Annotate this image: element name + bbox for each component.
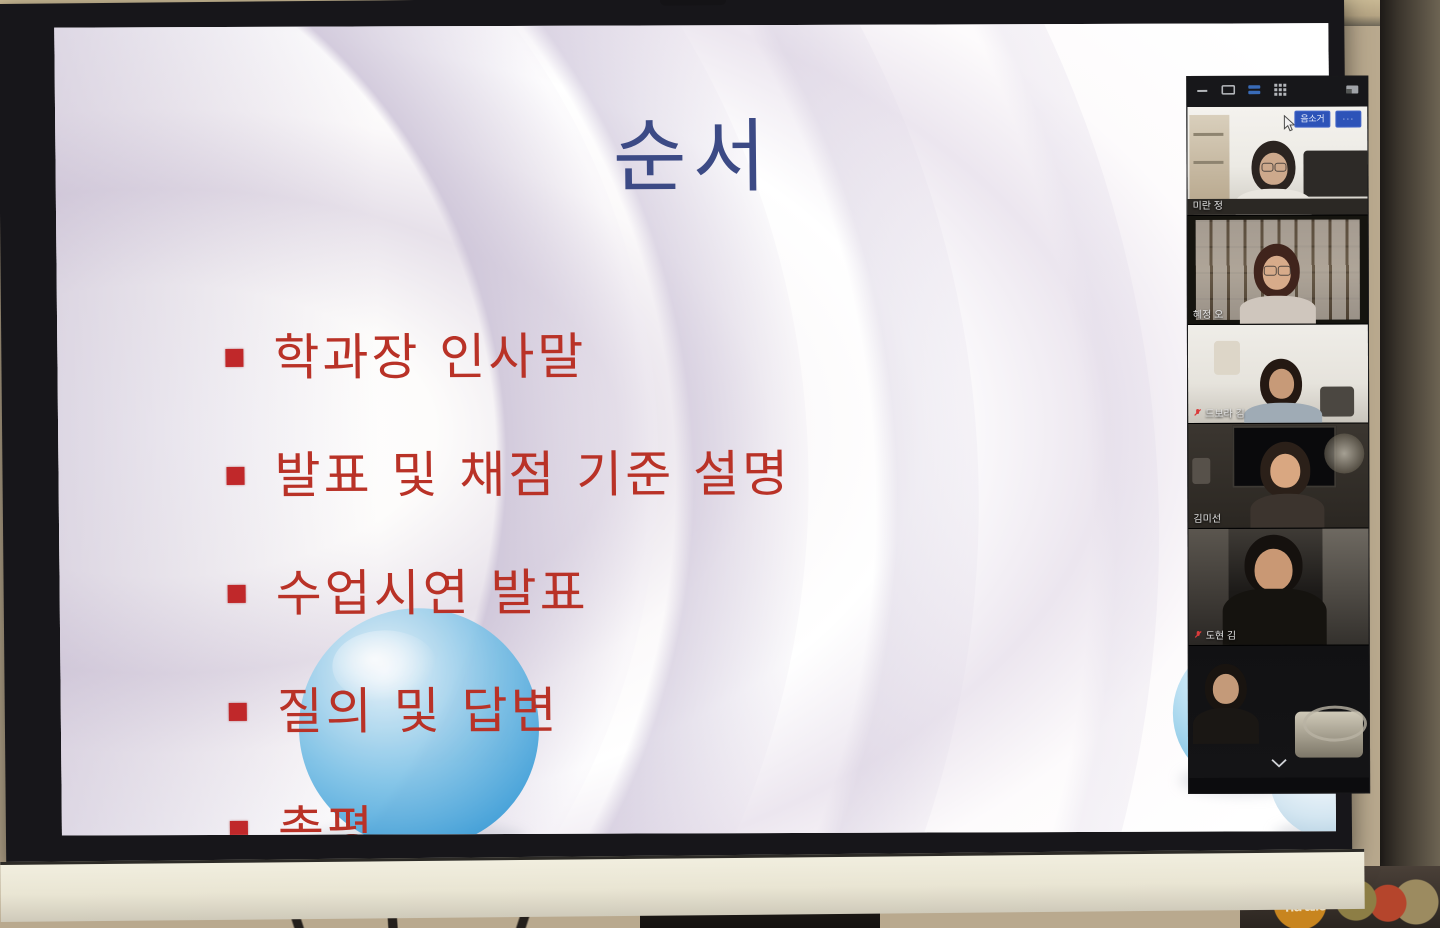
- participant-tile[interactable]: 드보라 김: [1188, 324, 1368, 423]
- person-body: [1193, 708, 1259, 744]
- presentation-slide: 순서 학과장 인사말 발표 및 채점 기준 설명 수업시연 발표 질의 및 답변: [54, 23, 1336, 835]
- background-object: [1192, 458, 1210, 484]
- bullet-square-icon: [225, 349, 243, 367]
- participant-tile[interactable]: 혜정 오: [1188, 215, 1368, 324]
- participant-name-label: 혜정 오: [1193, 306, 1223, 321]
- participant-name: 드보라 김: [1193, 405, 1245, 420]
- participant-name-label: 드보라 김: [1205, 405, 1245, 420]
- active-speaker-icon[interactable]: [1247, 82, 1261, 101]
- minimize-icon[interactable]: [1195, 82, 1209, 101]
- room-photo: nd allo 순서 학과장 인사말: [0, 0, 1440, 928]
- person-body: [1223, 589, 1327, 645]
- eyeglasses: [1261, 163, 1273, 172]
- bullet-label: 학과장 인사말: [273, 330, 586, 384]
- person-face: [1269, 369, 1294, 399]
- eyeglasses: [1274, 163, 1286, 172]
- background-dark-panel: [1303, 150, 1367, 196]
- muted-mic-icon: [1193, 408, 1202, 417]
- participant-name: 미란 정: [1193, 197, 1223, 212]
- background-shelf: [1189, 115, 1229, 203]
- participant-name-label: 미란 정: [1193, 197, 1223, 212]
- eyeglasses: [1278, 266, 1291, 276]
- person-body: [1240, 296, 1316, 324]
- person-face: [1270, 454, 1300, 488]
- participant-tile[interactable]: 김미선: [1188, 423, 1368, 528]
- background-object-ring: [1303, 705, 1367, 741]
- chevron-down-icon[interactable]: [1270, 756, 1288, 774]
- participant-tile[interactable]: 도현 김: [1188, 528, 1368, 645]
- shelf-line: [1193, 133, 1223, 136]
- background-light: [1324, 434, 1364, 474]
- zoom-video-panel[interactable]: 음소거 ··· 미란 정: [1186, 75, 1370, 793]
- participant-name-label: 도현 김: [1206, 627, 1236, 642]
- popout-icon[interactable]: [1345, 82, 1359, 101]
- person-face: [1254, 549, 1292, 591]
- participant-name: 김미선: [1193, 510, 1221, 525]
- monitor: 순서 학과장 인사말 발표 및 채점 기준 설명 수업시연 발표 질의 및 답변: [0, 0, 1352, 866]
- participant-name-label: 김미선: [1193, 510, 1221, 525]
- eyeglasses: [1264, 266, 1277, 276]
- bullet-label: 발표 및 채점 기준 설명: [274, 448, 791, 502]
- slide-bullet-list: 학과장 인사말 발표 및 채점 기준 설명 수업시연 발표 질의 및 답변 총평: [225, 295, 1231, 835]
- person-body: [1244, 403, 1322, 424]
- person-body: [1250, 494, 1324, 528]
- shelf-line: [1193, 161, 1223, 164]
- zoom-hover-buttons[interactable]: 음소거 ···: [1294, 111, 1361, 128]
- bullet-square-icon: [226, 467, 244, 485]
- webcam-icon: [660, 0, 726, 6]
- gallery-view-icon[interactable]: [1273, 82, 1287, 101]
- bullet-label: 질의 및 답변: [277, 685, 560, 738]
- bullet-square-icon: [229, 703, 247, 721]
- slide-title: 순서: [55, 115, 1330, 199]
- list-item: 수업시연 발표: [227, 531, 1228, 652]
- wall-right: [1380, 0, 1440, 928]
- participant-name: 도현 김: [1194, 627, 1236, 642]
- participant-tile[interactable]: [1189, 645, 1369, 777]
- list-item: 총평: [229, 767, 1230, 835]
- background-lamp: [1214, 341, 1240, 375]
- bullet-label: 총평: [278, 803, 377, 835]
- bullet-square-icon: [228, 585, 246, 603]
- bullet-label: 수업시연 발표: [275, 566, 588, 620]
- person-face: [1213, 674, 1239, 704]
- list-item: 발표 및 채점 기준 설명: [226, 413, 1227, 534]
- bullet-square-icon: [230, 821, 248, 836]
- list-item: 질의 및 답변: [228, 649, 1229, 770]
- more-options-button[interactable]: ···: [1335, 111, 1361, 128]
- background-right-wall: [1322, 528, 1368, 644]
- speaker-view-icon[interactable]: [1221, 82, 1235, 101]
- monitor-bezel-bottom: [0, 849, 1365, 922]
- mute-button[interactable]: 음소거: [1294, 111, 1330, 128]
- list-item: 학과장 인사말: [225, 295, 1226, 416]
- muted-mic-icon: [1194, 630, 1203, 639]
- background-chair: [1320, 387, 1354, 417]
- participant-name: 혜정 오: [1193, 306, 1223, 321]
- zoom-view-toolbar[interactable]: [1187, 76, 1367, 106]
